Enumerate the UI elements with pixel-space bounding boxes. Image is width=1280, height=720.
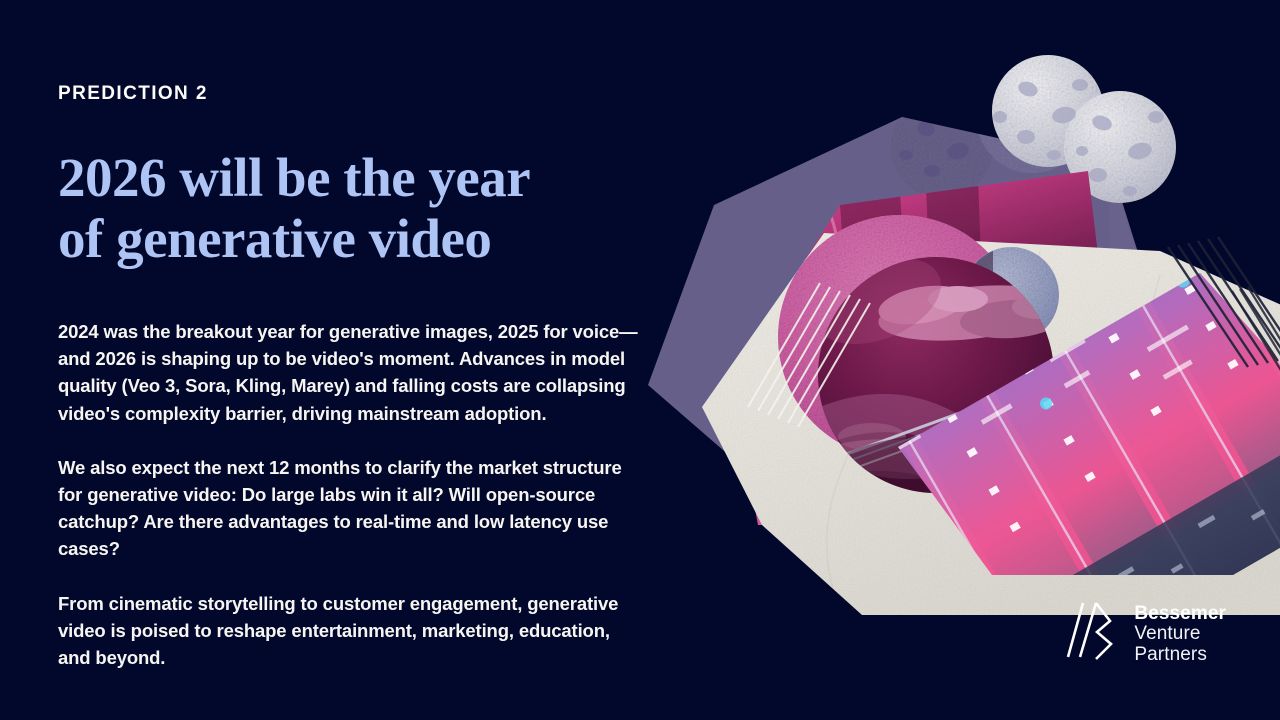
presentation-slide: PREDICTION 2 2026 will be the year of ge… bbox=[0, 0, 1280, 720]
prediction-eyebrow: PREDICTION 2 bbox=[58, 84, 658, 105]
logo-line-venture: Venture bbox=[1134, 624, 1226, 645]
bessemer-venture-partners-logo: Bessemer Venture Partners bbox=[1066, 601, 1226, 668]
body-paragraph-3: From cinematic storytelling to customer … bbox=[58, 590, 643, 672]
logo-wordmark: Bessemer Venture Partners bbox=[1134, 604, 1226, 666]
slide-text-column: PREDICTION 2 2026 will be the year of ge… bbox=[58, 84, 658, 671]
bessemer-chevron-mark-icon bbox=[1066, 601, 1120, 668]
page-title: 2026 will be the year of generative vide… bbox=[58, 147, 578, 270]
body-paragraph-2: We also expect the next 12 months to cla… bbox=[58, 454, 643, 563]
logo-line-bessemer: Bessemer bbox=[1134, 604, 1226, 625]
body-paragraph-1: 2024 was the breakout year for generativ… bbox=[58, 318, 643, 427]
generative-video-collage bbox=[640, 55, 1280, 635]
logo-line-partners: Partners bbox=[1134, 645, 1226, 666]
